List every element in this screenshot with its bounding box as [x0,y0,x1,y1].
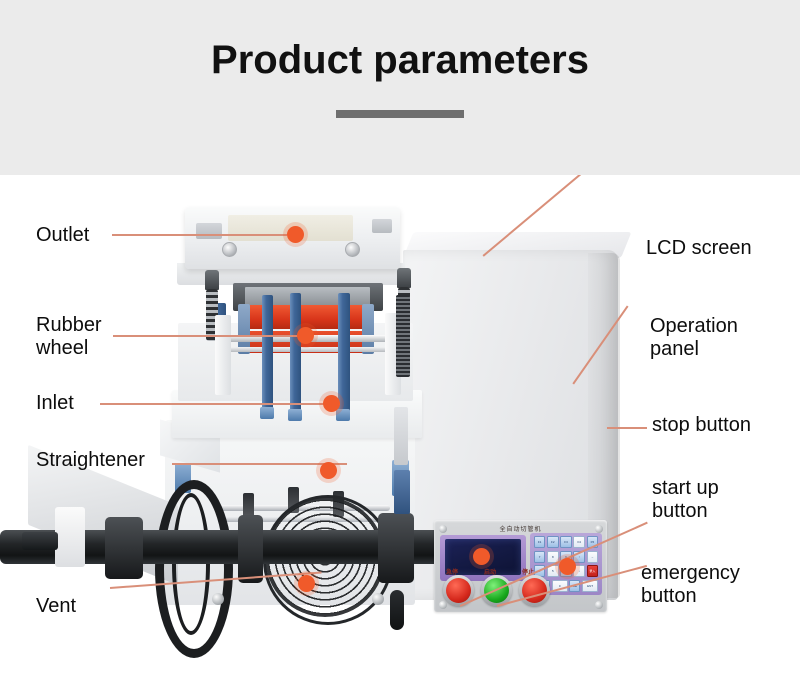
side-connector-block [396,295,410,377]
keypad-key[interactable]: F3 [560,536,572,548]
axle-nose-stub [22,532,58,550]
callout-label-inlet: Inlet [36,392,74,415]
axle-flange-3 [378,513,414,583]
callout-label-start-up-button: start up button [652,477,719,523]
emergency-button-cn-label: 急停 [446,567,458,576]
start-up-button[interactable] [484,578,509,603]
leader-stop-button [607,427,647,429]
callout-label-rubber-wheel: Rubber wheel [36,314,102,360]
keypad-key[interactable]: 7 [534,551,546,563]
marker-dot-rubber-wheel [297,327,314,344]
head-screw-right [345,242,360,257]
axle-nose-cap [55,507,85,567]
axle-flange-1 [105,517,143,579]
start-up-button-cn-label: 启动 [484,567,496,576]
callout-label-stop-button: stop button [652,414,751,437]
panel-brand-text: 全自动切管机 [442,524,599,533]
head-tab-left [196,223,222,239]
callout-label-outlet: Outlet [36,224,89,247]
header-band [0,0,800,175]
blue-strip-foot-1 [260,407,274,419]
blue-guide-strip-1 [262,295,273,413]
blue-strip-foot-3 [336,409,350,421]
keypad-key[interactable]: F4 [573,536,585,548]
callout-label-lcd-screen: LCD screen [646,237,752,260]
marker-dot-straightener [320,462,337,479]
keypad-key[interactable]: 5 [547,565,559,577]
head-tab-right [372,219,392,233]
keypad-key[interactable]: F1 [534,536,546,548]
blue-guide-strip-2 [290,293,301,415]
adjust-knob [390,590,404,630]
keypad-key[interactable]: 录入 [587,565,599,577]
emergency-button[interactable] [446,578,471,603]
tension-screw-left [205,270,219,290]
guide-bar-lower [220,347,390,352]
blue-strip-foot-2 [288,409,302,421]
side-panel-block [394,407,408,465]
panel-screw-br [595,601,603,609]
leader-straightener [172,463,347,465]
tension-screw-right [397,268,411,288]
page-title: Product parameters [0,38,800,83]
marker-dot-lcd-screen [473,548,490,565]
callout-label-emergency-button: emergency button [641,562,740,608]
marker-dot-vent [298,575,315,592]
marker-dot-operation-panel [559,558,576,575]
callout-label-straightener: Straightener [36,449,145,472]
leader-inlet [100,403,340,405]
axle-flange-2 [238,515,263,583]
leader-outlet [112,234,287,236]
leader-rubber-wheel [113,335,305,337]
title-underline-rule [336,110,464,118]
guide-post-left [215,315,231,395]
blue-guide-strip-3 [338,293,350,417]
marker-dot-outlet [287,226,304,243]
base-screw-right [372,593,384,605]
side-blue-block [394,470,410,514]
callout-label-vent: Vent [36,595,76,618]
marker-dot-inlet [323,395,340,412]
keypad-key[interactable]: F2 [547,536,559,548]
keypad-key[interactable]: → [587,551,599,563]
stop-button[interactable] [522,578,547,603]
callout-label-operation-panel: Operation panel [650,315,738,361]
handwheel-inner [172,493,210,635]
panel-screw-bl [439,601,447,609]
head-screw-left [222,242,237,257]
base-screw-left [212,593,224,605]
